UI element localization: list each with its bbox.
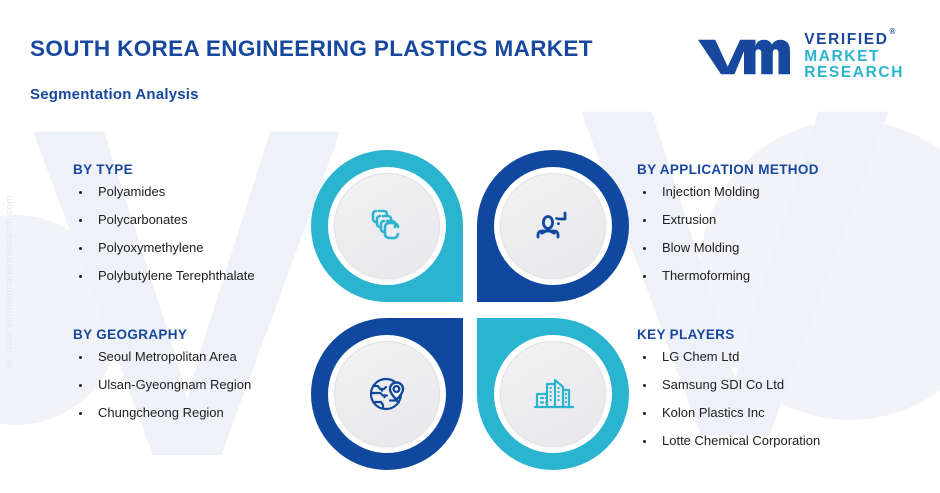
bullet-icon — [79, 412, 82, 415]
list-item: Polybutylene Terephthalate — [73, 269, 255, 284]
section-by-geography: BY GEOGRAPHY Seoul Metropolitan Area Uls… — [73, 327, 251, 421]
bullet-icon — [79, 384, 82, 387]
list-item-label: Injection Molding — [662, 184, 760, 199]
quadrant-by-type[interactable] — [311, 150, 463, 302]
quadrant-inner-ring — [494, 167, 612, 285]
section-list: Seoul Metropolitan Area Ulsan-Gyeongnam … — [73, 350, 251, 421]
list-item-label: Lotte Chemical Corporation — [662, 433, 820, 448]
city-buildings-icon — [526, 367, 580, 421]
bullet-icon — [79, 247, 82, 250]
list-item-label: Polyamides — [98, 184, 165, 199]
list-item-label: Samsung SDI Co Ltd — [662, 377, 784, 392]
list-item: Polyoxymethylene — [73, 241, 255, 256]
list-item-label: Polybutylene Terephthalate — [98, 268, 255, 283]
bullet-icon — [643, 412, 646, 415]
list-item: Ulsan-Gyeongnam Region — [73, 378, 251, 393]
quadrant-disc — [500, 173, 606, 279]
section-heading: KEY PLAYERS — [637, 327, 820, 342]
list-item-label: Polyoxymethylene — [98, 240, 204, 255]
bullet-icon — [643, 191, 646, 194]
section-by-application-method: BY APPLICATION METHOD Injection Molding … — [637, 162, 819, 284]
list-item-label: Ulsan-Gyeongnam Region — [98, 377, 251, 392]
registered-trademark-icon: ® — [890, 27, 898, 36]
logo-line-market: MARKET — [804, 49, 904, 65]
bullet-icon — [643, 440, 646, 443]
page-title: SOUTH KOREA ENGINEERING PLASTICS MARKET — [30, 36, 593, 62]
infographic-canvas: V V © www.verifiedmarketresearch.com SOU… — [0, 0, 940, 493]
list-item: Extrusion — [637, 213, 819, 228]
quadrant-disc — [500, 341, 606, 447]
vmr-logo-icon — [696, 34, 792, 80]
list-item: Samsung SDI Co Ltd — [637, 378, 820, 393]
bullet-icon — [79, 275, 82, 278]
user-profile-scan-icon — [527, 200, 579, 252]
list-item: Polyamides — [73, 185, 255, 200]
section-key-players: KEY PLAYERS LG Chem Ltd Samsung SDI Co L… — [637, 327, 820, 449]
list-item: Injection Molding — [637, 185, 819, 200]
list-item-label: Chungcheong Region — [98, 405, 224, 420]
bullet-icon — [643, 384, 646, 387]
section-heading: BY GEOGRAPHY — [73, 327, 251, 342]
section-heading: BY TYPE — [73, 162, 255, 177]
section-list: Polyamides Polycarbonates Polyoxymethyle… — [73, 185, 255, 284]
list-item: LG Chem Ltd — [637, 350, 820, 365]
list-item: Kolon Plastics Inc — [637, 406, 820, 421]
list-item-label: Polycarbonates — [98, 212, 188, 227]
bullet-icon — [79, 219, 82, 222]
list-item-label: LG Chem Ltd — [662, 349, 739, 364]
logo-wordmark: VERIFIED® MARKET RESEARCH — [804, 32, 904, 81]
section-list: LG Chem Ltd Samsung SDI Co Ltd Kolon Pla… — [637, 350, 820, 449]
list-item: Chungcheong Region — [73, 406, 251, 421]
page-subtitle: Segmentation Analysis — [30, 86, 593, 103]
section-by-type: BY TYPE Polyamides Polycarbonates Polyox… — [73, 162, 255, 284]
logo-line-verified: VERIFIED® — [804, 32, 904, 49]
quadrant-inner-ring — [494, 335, 612, 453]
list-item-label: Kolon Plastics Inc — [662, 405, 765, 420]
quadrant-disc — [334, 173, 440, 279]
copyright-watermark: © www.verifiedmarketresearch.com — [4, 195, 15, 368]
logo-line-research: RESEARCH — [804, 65, 904, 81]
list-item: Blow Molding — [637, 241, 819, 256]
section-list: Injection Molding Extrusion Blow Molding… — [637, 185, 819, 284]
list-item: Seoul Metropolitan Area — [73, 350, 251, 365]
section-heading: BY APPLICATION METHOD — [637, 162, 819, 177]
quadrant-by-application-method[interactable] — [477, 150, 629, 302]
quadrant-by-geography[interactable] — [311, 318, 463, 470]
bullet-icon — [79, 191, 82, 194]
list-item-label: Extrusion — [662, 212, 716, 227]
globe-location-pin-icon — [360, 367, 414, 421]
list-item: Polycarbonates — [73, 213, 255, 228]
list-item-label: Thermoforming — [662, 268, 750, 283]
bullet-icon — [79, 356, 82, 359]
header: SOUTH KOREA ENGINEERING PLASTICS MARKET … — [30, 36, 593, 103]
quadrant-inner-ring — [328, 335, 446, 453]
quadrant-inner-ring — [328, 167, 446, 285]
segment-pinwheel — [311, 150, 629, 470]
list-item-label: Blow Molding — [662, 240, 739, 255]
brand-logo: VERIFIED® MARKET RESEARCH — [696, 32, 904, 81]
list-item-label: Seoul Metropolitan Area — [98, 349, 237, 364]
bullet-icon — [643, 356, 646, 359]
bullet-icon — [643, 247, 646, 250]
quadrant-key-players[interactable] — [477, 318, 629, 470]
stacked-layers-icon — [361, 200, 413, 252]
quadrant-disc — [334, 341, 440, 447]
bullet-icon — [643, 275, 646, 278]
list-item: Lotte Chemical Corporation — [637, 434, 820, 449]
list-item: Thermoforming — [637, 269, 819, 284]
bullet-icon — [643, 219, 646, 222]
